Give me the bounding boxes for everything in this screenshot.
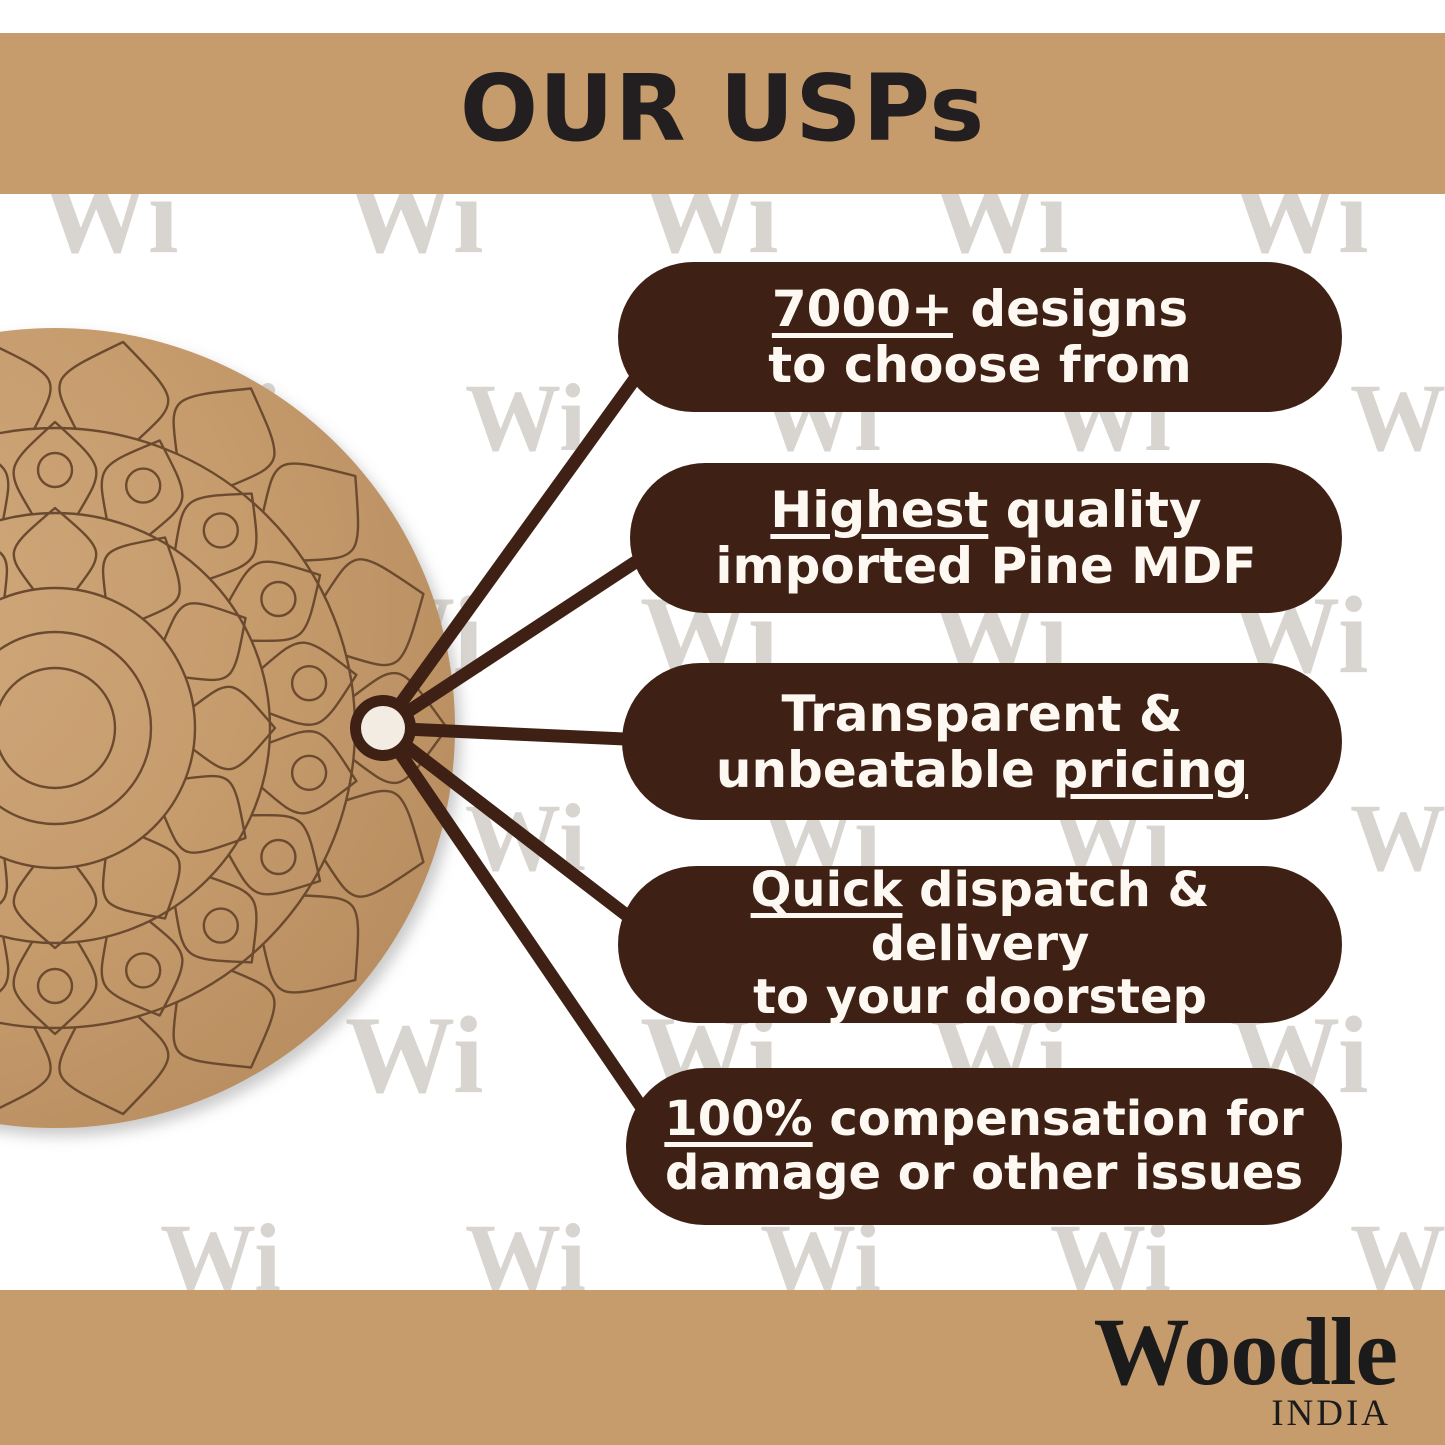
usp-line2-0: to choose from — [768, 336, 1192, 394]
usp-pill-dispatch-delivery[interactable]: Quick dispatch & delivery to your doorst… — [618, 866, 1342, 1023]
usp-rest-1: quality — [988, 481, 1201, 539]
usp-highlight-3: Quick — [751, 862, 903, 918]
usp-text-material-quality: Highest quality imported Pine MDF — [715, 482, 1256, 594]
usp-highlight-0: 7000+ — [772, 280, 953, 338]
usp-line2-1: imported Pine MDF — [715, 537, 1256, 595]
usp-highlight-1: Highest — [770, 481, 988, 539]
usp-text-pricing: Transparent & unbeatable pricing — [716, 686, 1248, 798]
usp-text-compensation: 100% compensation for damage or other is… — [664, 1093, 1303, 1201]
usp-pill-pricing[interactable]: Transparent & unbeatable pricing — [622, 663, 1342, 820]
usp-pill-material-quality[interactable]: Highest quality imported Pine MDF — [630, 463, 1342, 613]
usp-rest-0: designs — [953, 280, 1188, 338]
hub-center — [361, 706, 405, 750]
usp-line1-2: Transparent & — [782, 685, 1183, 743]
page-title: OUR USPs — [0, 55, 1445, 162]
brand-logo-word: Woodle — [1094, 1306, 1397, 1398]
connector-line-1 — [383, 337, 665, 728]
usp-pill-compensation[interactable]: 100% compensation for damage or other is… — [626, 1068, 1342, 1225]
usp-pill-designs-count[interactable]: 7000+ designs to choose from — [618, 262, 1342, 412]
usp-highlight-2: pricing — [1052, 741, 1248, 799]
infographic-canvas: WiWiWiWiWiWiWiWiWiWiWiWiWiWiWiWiWiWiWiWi… — [0, 0, 1445, 1445]
brand-logo: Woodle INDIA — [1094, 1306, 1397, 1435]
usp-rest-2: unbeatable — [716, 741, 1053, 799]
usp-line2-3: to your doorstep — [753, 969, 1207, 1025]
usp-highlight-4: 100% — [664, 1091, 812, 1147]
usp-text-designs-count: 7000+ designs to choose from — [768, 281, 1192, 393]
usp-text-dispatch-delivery: Quick dispatch & delivery to your doorst… — [644, 864, 1316, 1025]
usp-rest-4: compensation for — [813, 1091, 1304, 1147]
usp-line2-4: damage or other issues — [665, 1145, 1303, 1201]
hub-node — [350, 695, 416, 761]
usp-rest-3: dispatch & delivery — [871, 862, 1210, 972]
